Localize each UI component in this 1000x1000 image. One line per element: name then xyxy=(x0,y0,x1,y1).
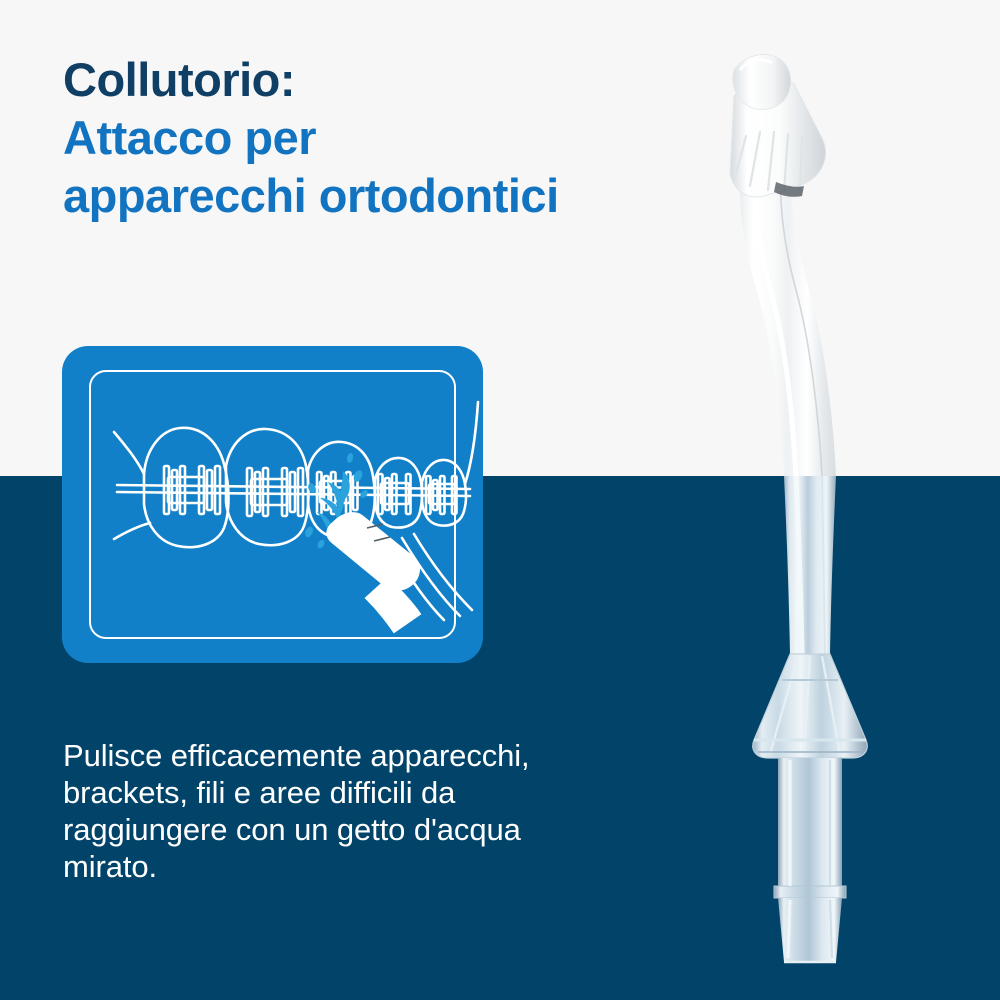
page-title-line-1: Collutorio: xyxy=(63,51,783,109)
page-title: Collutorio: Attacco per apparecchi ortod… xyxy=(63,51,783,225)
flosser-tip xyxy=(327,513,420,632)
product-image xyxy=(690,40,950,970)
description-line-2: brackets, fili e aree difficili da xyxy=(63,774,753,811)
description-line-4: mirato. xyxy=(63,848,753,885)
page-title-line-2: Attacco per xyxy=(63,109,783,167)
page-title-line-3: apparecchi ortodontici xyxy=(63,167,783,225)
braces-teeth-water-flosser-illustration xyxy=(62,346,483,663)
water-flosser-tip-graphic xyxy=(690,40,950,970)
illustration-card xyxy=(62,346,483,663)
product-infographic: Collutorio: Attacco per apparecchi ortod… xyxy=(0,0,1000,1000)
product-shaft xyxy=(740,158,836,654)
description-text: Pulisce efficacemente apparecchi, bracke… xyxy=(63,737,753,885)
description-line-3: raggiungere con un getto d'acqua xyxy=(63,811,753,848)
product-stem xyxy=(774,758,846,962)
description-line-1: Pulisce efficacemente apparecchi, xyxy=(63,737,753,774)
product-flare-base xyxy=(753,654,867,758)
product-nozzle-head xyxy=(730,54,826,196)
